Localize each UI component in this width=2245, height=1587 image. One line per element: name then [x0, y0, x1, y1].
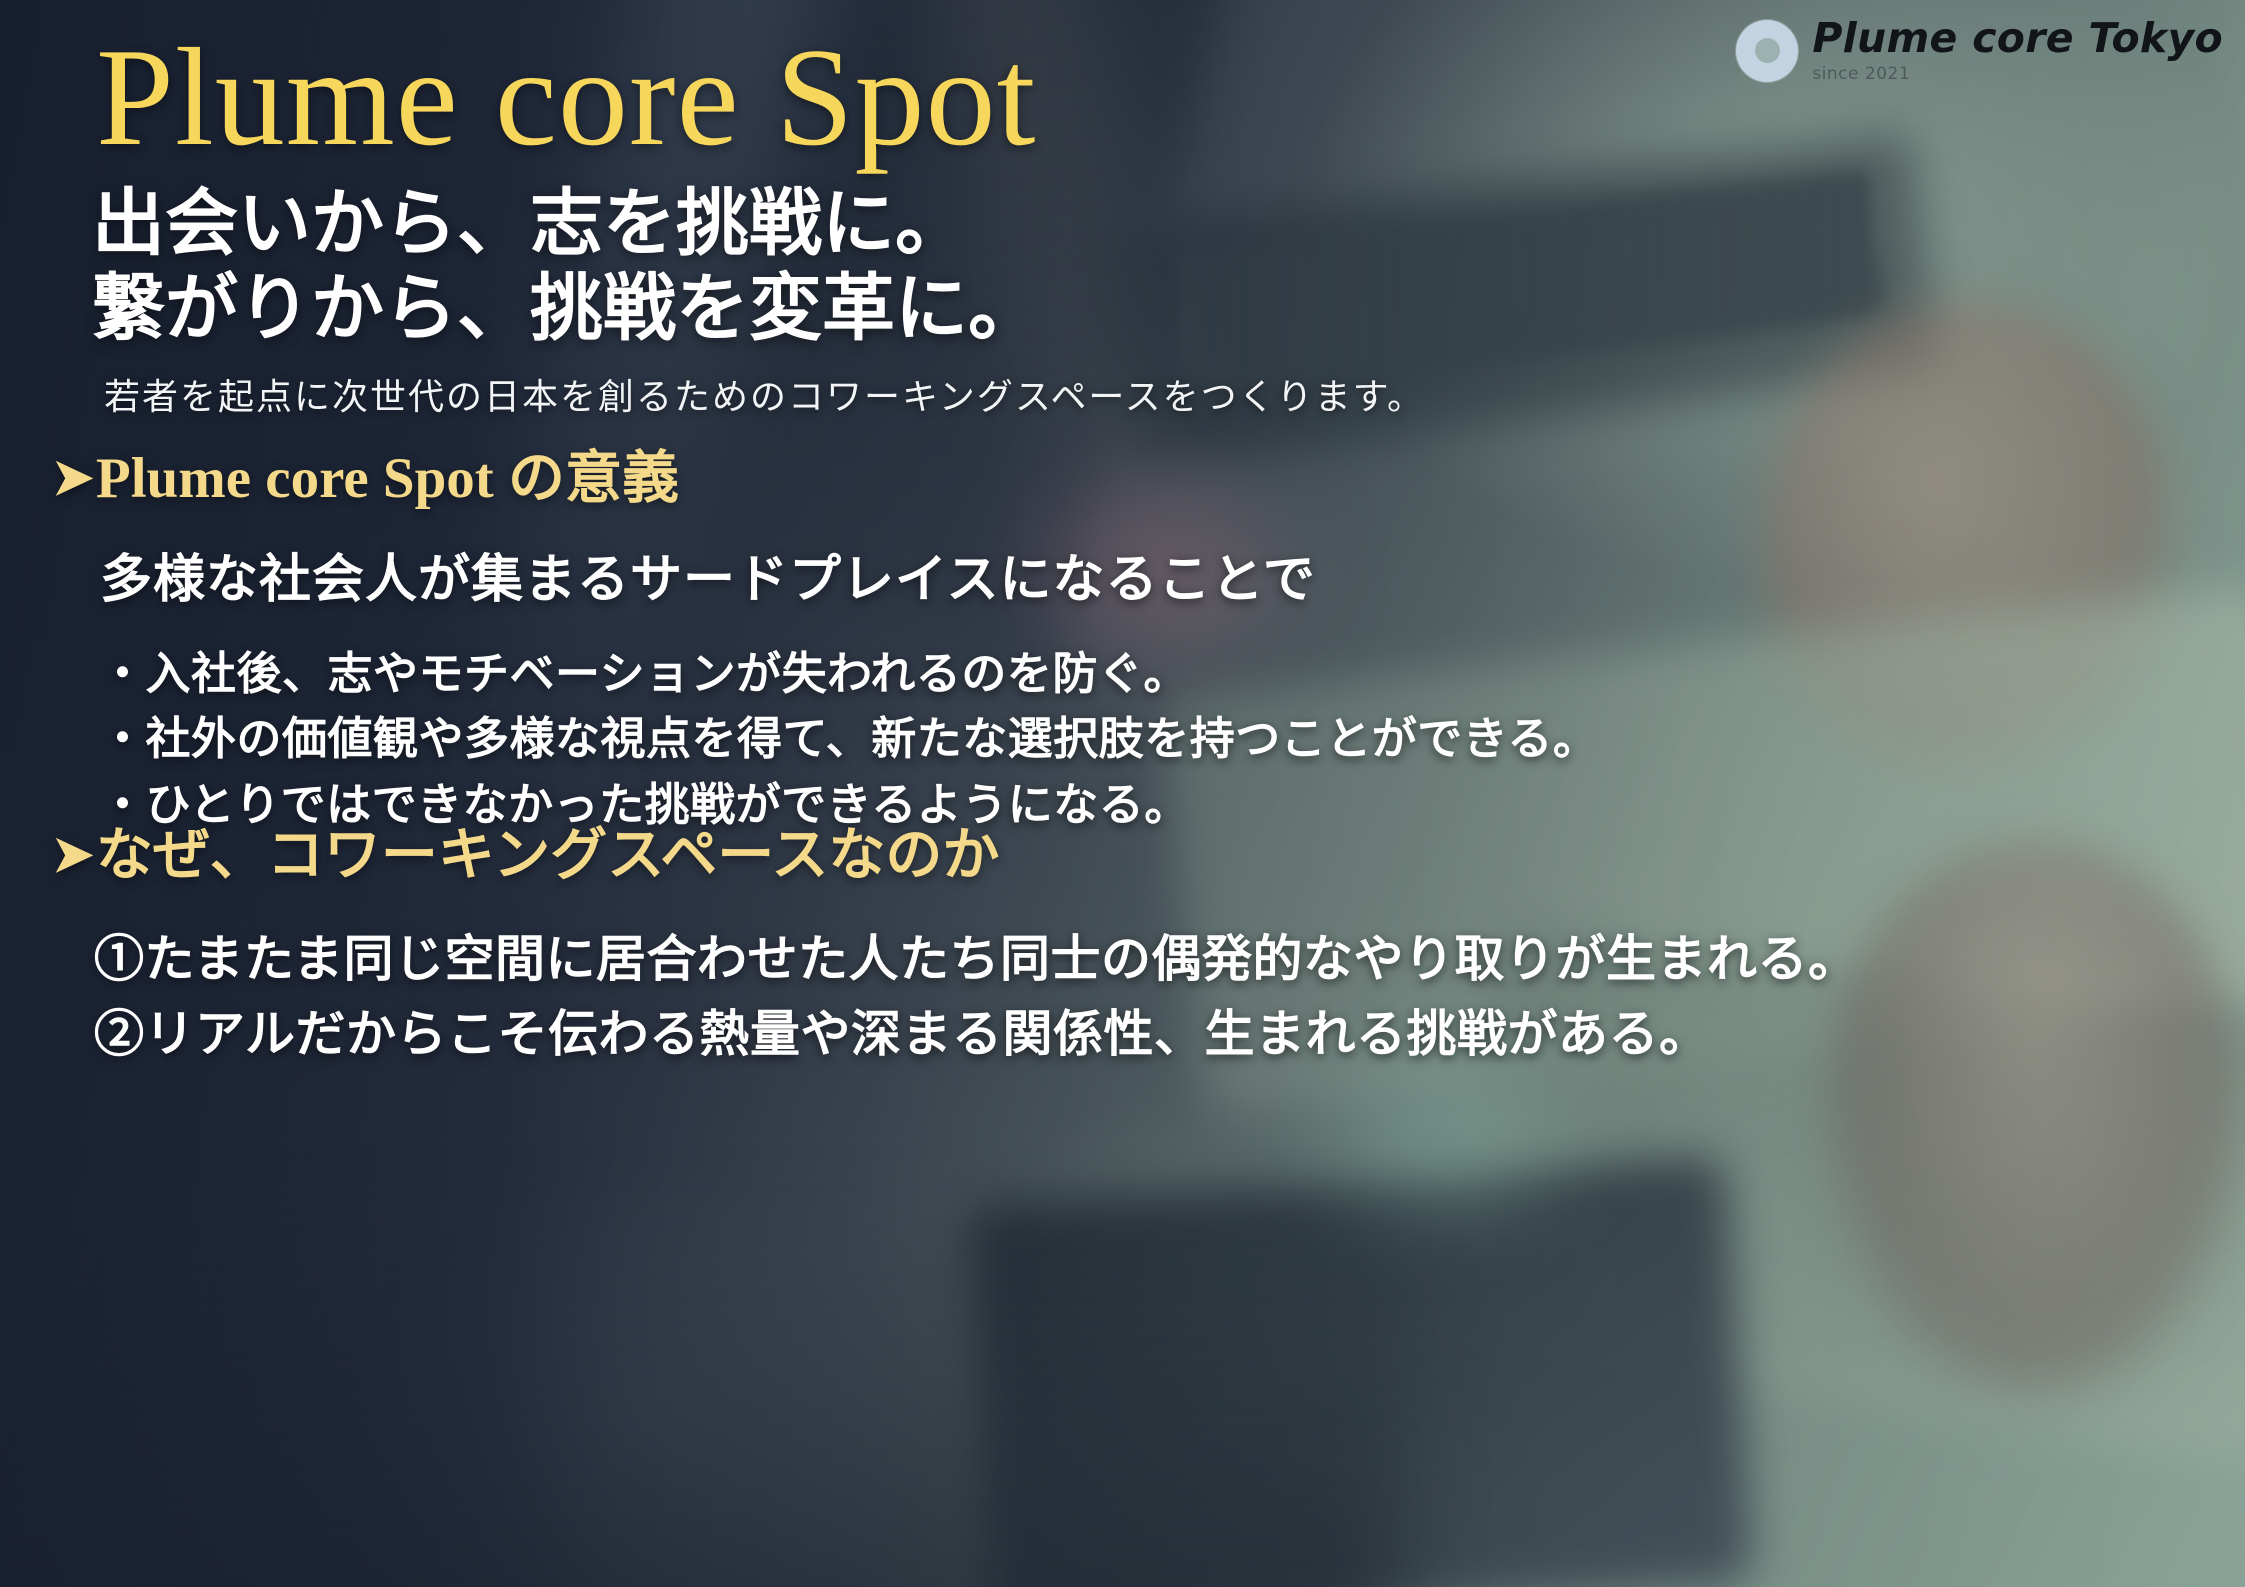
subtitle: 若者を起点に次世代の日本を創るためのコワーキングスペースをつくります。	[104, 368, 1425, 420]
slide-content: Plume core Tokyo since 2021 Plume core S…	[0, 0, 2245, 1587]
arrow-bullet-icon: ➤	[52, 452, 94, 502]
arrow-bullet-icon: ➤	[52, 829, 94, 879]
section-why-coworking-heading: ➤ なぜ、コワーキングスペースなのか	[52, 825, 1859, 888]
list-item: ・入社後、志やモチベーションが失われるのを防ぐ。	[100, 642, 1598, 708]
slide: Plume core Tokyo since 2021 Plume core S…	[0, 0, 2245, 1587]
brand-logo: Plume core Tokyo since 2021	[1736, 18, 2223, 83]
page-title: Plume core Spot	[96, 22, 1036, 173]
section-significance: ➤ Plume core Spot の意義 多様な社会人が集まるサードプレイスに…	[52, 448, 1598, 839]
section-why-coworking-heading-label: なぜ、コワーキングスペースなのか	[96, 825, 999, 888]
section-significance-heading: ➤ Plume core Spot の意義	[52, 448, 1598, 511]
tagline-line-1: 出会いから、志を挑戦に。	[92, 182, 1041, 267]
list-item: ①たまたま同じ空間に居合わせた人たち同士の偶発的なやり取りが生まれる。	[94, 922, 1859, 997]
tagline-line-2: 繋がりから、挑戦を変革に。	[92, 267, 1041, 352]
section-significance-lead: 多様な社会人が集まるサードプレイスになることで	[100, 537, 1598, 612]
list-item: ・社外の価値観や多様な視点を得て、新たな選択肢を持つことができる。	[100, 707, 1598, 773]
brand-since: since 2021	[1812, 66, 2223, 83]
section-why-coworking-list: ①たまたま同じ空間に居合わせた人たち同士の偶発的なやり取りが生まれる。 ②リアル…	[94, 922, 1859, 1072]
section-significance-list: ・入社後、志やモチベーションが失われるのを防ぐ。 ・社外の価値観や多様な視点を得…	[100, 642, 1598, 839]
section-significance-heading-label: Plume core Spot の意義	[96, 448, 679, 511]
tagline: 出会いから、志を挑戦に。 繋がりから、挑戦を変革に。	[92, 182, 1041, 351]
section-why-coworking: ➤ なぜ、コワーキングスペースなのか ①たまたま同じ空間に居合わせた人たち同士の…	[52, 825, 1859, 1072]
brand-logo-text: Plume core Tokyo since 2021	[1812, 18, 2223, 83]
list-item: ②リアルだからこそ伝わる熱量や深まる関係性、生まれる挑戦がある。	[94, 997, 1859, 1072]
ring-icon	[1736, 20, 1798, 82]
brand-name: Plume core Tokyo	[1812, 18, 2223, 59]
